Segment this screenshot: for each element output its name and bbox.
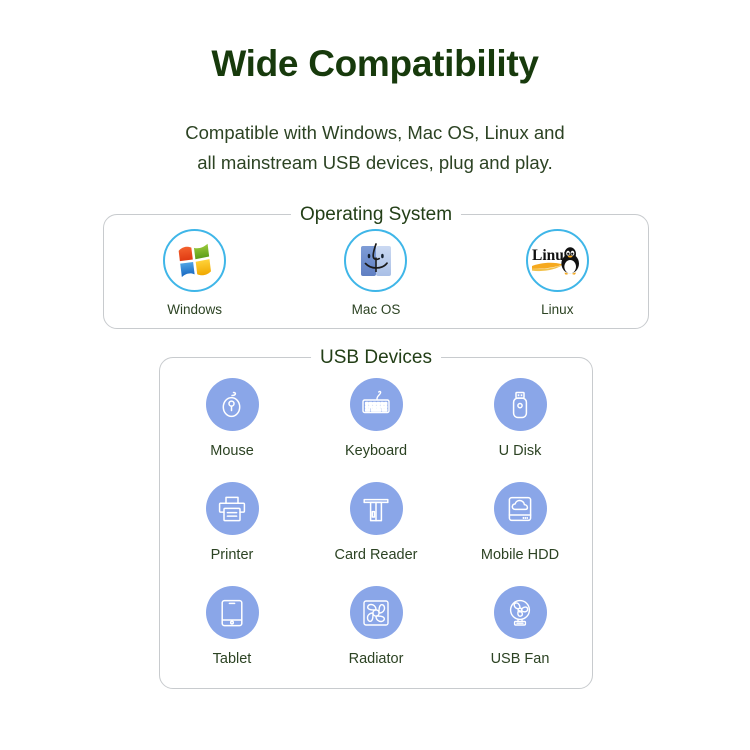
os-item-label-windows: Windows — [167, 303, 222, 317]
os-item-label-macos: Mac OS — [352, 303, 401, 317]
case-fan-icon — [361, 598, 391, 628]
usb-item-label-radiator: Radiator — [349, 652, 404, 667]
os-icon-circle-macos — [344, 229, 407, 292]
os-item-macos[interactable]: Mac OS — [285, 229, 466, 317]
operating-system-panel-legend: Operating System — [291, 203, 461, 227]
external-hard-drive-icon — [505, 494, 535, 524]
operating-system-panel: Operating System — [103, 214, 649, 329]
usb-item-mouse[interactable]: Mouse — [160, 378, 304, 482]
usb-item-u-disk[interactable]: U Disk — [448, 378, 592, 482]
windows-logo-icon — [176, 243, 214, 279]
usb-icon-circle-mobile-hdd — [494, 482, 547, 535]
usb-item-keyboard[interactable]: Keyboard — [304, 378, 448, 482]
usb-icon-circle-mouse — [206, 378, 259, 431]
printer-icon — [217, 494, 247, 524]
usb-item-label-tablet: Tablet — [213, 652, 252, 667]
os-item-label-linux: Linux — [541, 303, 573, 317]
tablet-icon — [219, 598, 245, 628]
page-title: Wide Compatibility — [0, 44, 750, 85]
usb-icon-circle-usb-fan — [494, 586, 547, 639]
page-subtitle-line-2: all mainstream USB devices, plug and pla… — [0, 148, 750, 178]
usb-item-mobile-hdd[interactable]: Mobile HDD — [448, 482, 592, 586]
usb-item-radiator[interactable]: Radiator — [304, 586, 448, 690]
usb-item-printer[interactable]: Printer — [160, 482, 304, 586]
usb-flash-drive-icon — [506, 390, 534, 420]
linux-tux-icon: Linux — [531, 243, 583, 279]
usb-item-card-reader[interactable]: Card Reader — [304, 482, 448, 586]
os-item-linux[interactable]: Linux — [467, 229, 648, 317]
usb-item-usb-fan[interactable]: USB Fan — [448, 586, 592, 690]
usb-item-label-keyboard: Keyboard — [345, 444, 407, 459]
usb-item-label-usb-fan: USB Fan — [491, 652, 550, 667]
usb-item-label-mobile-hdd: Mobile HDD — [481, 548, 559, 563]
usb-icon-circle-tablet — [206, 586, 259, 639]
keyboard-icon — [360, 390, 392, 420]
usb-item-tablet[interactable]: Tablet — [160, 586, 304, 690]
usb-fan-icon — [505, 598, 535, 628]
usb-devices-panel: USB Devices Mouse — [159, 357, 593, 689]
operating-system-list: Windows — [104, 229, 648, 317]
usb-item-label-mouse: Mouse — [210, 444, 254, 459]
page-subtitle: Compatible with Windows, Mac OS, Linux a… — [0, 118, 750, 178]
page-subtitle-line-1: Compatible with Windows, Mac OS, Linux a… — [0, 118, 750, 148]
usb-icon-circle-u-disk — [494, 378, 547, 431]
usb-item-label-u-disk: U Disk — [499, 444, 542, 459]
usb-item-label-printer: Printer — [211, 548, 254, 563]
usb-devices-panel-legend: USB Devices — [311, 346, 441, 370]
usb-item-label-card-reader: Card Reader — [334, 548, 417, 563]
usb-icon-circle-radiator — [350, 586, 403, 639]
usb-icon-circle-printer — [206, 482, 259, 535]
usb-icon-circle-keyboard — [350, 378, 403, 431]
os-item-windows[interactable]: Windows — [104, 229, 285, 317]
mac-finder-icon — [357, 242, 395, 280]
os-icon-circle-linux: Linux — [526, 229, 589, 292]
usb-icon-circle-card-reader — [350, 482, 403, 535]
card-reader-icon — [361, 494, 391, 524]
mouse-icon — [217, 390, 247, 420]
usb-devices-grid: Mouse — [160, 378, 592, 690]
os-icon-circle-windows — [163, 229, 226, 292]
